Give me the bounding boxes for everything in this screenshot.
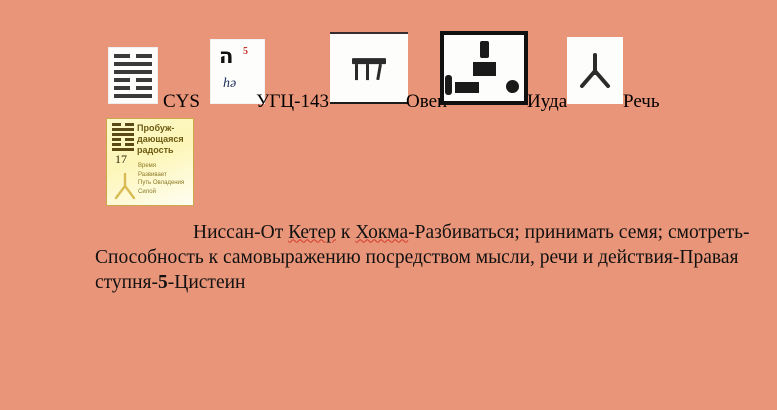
relief-mark-4 [445, 75, 452, 95]
hexagram-line-2 [114, 62, 152, 66]
paragraph-misspelled-keter: Кетер [288, 222, 336, 243]
stool-shape [352, 58, 386, 80]
oracle-card-rune-icon [112, 171, 138, 206]
hebrew-he-glyph: ה [219, 46, 233, 67]
paragraph-seg-7: -Цистеин [168, 272, 246, 293]
oracle-card-hexagram [112, 124, 134, 150]
relief-mark-2 [473, 62, 496, 76]
framed-relief-photo[interactable] [440, 31, 528, 105]
figure-label-rech: Речь [623, 92, 660, 111]
paragraph-seg-1: Ниссан-От [193, 222, 288, 243]
paragraph-seg-3: к [336, 222, 355, 243]
hebrew-numeric-value: 5 [243, 47, 248, 57]
relief-mark-5 [506, 80, 519, 93]
algiz-rune-icon [578, 51, 612, 91]
hexagram-line-6 [114, 94, 152, 98]
figure-label-ugc: УГЦ-143 [256, 92, 329, 111]
relief-mark-1 [480, 41, 489, 58]
hexagram-line-1 [114, 54, 152, 58]
hexagram-thumbnail[interactable] [108, 47, 158, 104]
document-canvas: CYS ה 5 hə УГЦ-143 Овен Иуда [0, 0, 777, 410]
oracle-card-subtitle: Время Развивает Путь Овладения Силой [138, 162, 194, 196]
oracle-card[interactable]: 17 Пробуж- дающаяся радость Время Развив… [106, 118, 194, 206]
paragraph-misspelled-hokma: Хокма [355, 222, 408, 243]
stool-photo[interactable] [330, 32, 408, 104]
figure-label-iuda: Иуда [527, 92, 567, 111]
hebrew-transliteration: hə [223, 77, 236, 91]
figure-label-cys: CYS [163, 92, 200, 111]
relief-mark-3 [455, 82, 479, 93]
paragraph-seg-6-bold: 5 [158, 272, 168, 293]
hexagram-line-4 [114, 78, 152, 82]
oracle-card-number: 17 [115, 153, 127, 165]
hexagram-line-3 [114, 70, 152, 74]
figure-row: CYS ה 5 hə УГЦ-143 Овен Иуда [0, 0, 777, 120]
body-paragraph: Ниссан-От Кетер к Хокма-Разбиваться; при… [95, 220, 755, 295]
algiz-rune-photo[interactable] [567, 37, 623, 104]
hexagram-line-5 [114, 86, 152, 90]
oracle-card-title: Пробуж- дающаяся радость [137, 123, 193, 156]
